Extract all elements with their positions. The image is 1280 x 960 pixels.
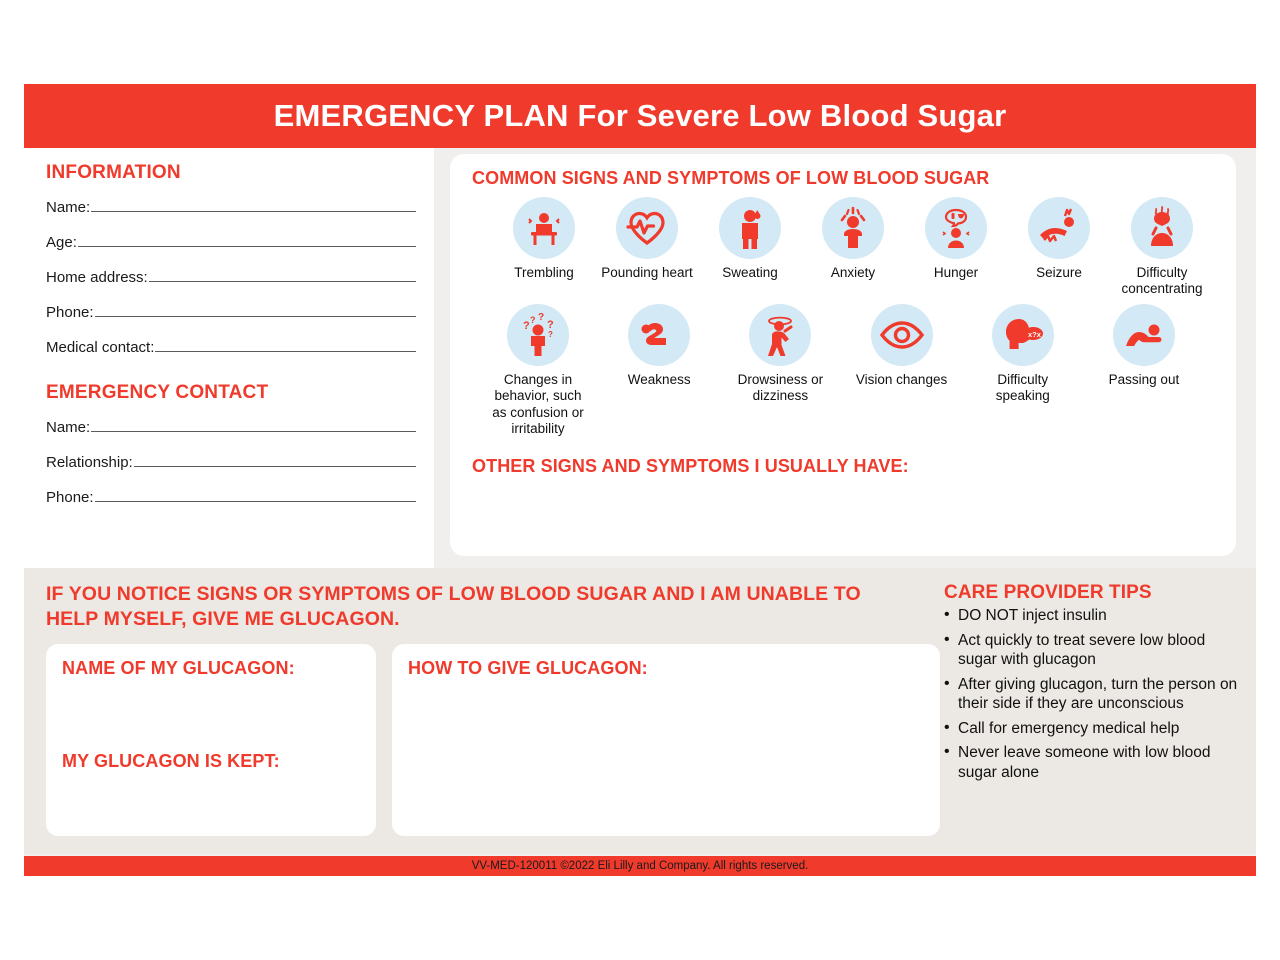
emergency-field-name[interactable]: Name:	[46, 418, 416, 436]
information-panel: INFORMATION Name: Age: Home address: Pho…	[24, 148, 434, 568]
field-label: Name:	[46, 199, 90, 216]
field-label: Home address:	[46, 269, 148, 286]
write-in-line[interactable]	[78, 233, 416, 247]
write-in-line[interactable]	[95, 303, 416, 317]
symptom-difficulty-concentrating: Difficulty concentrating	[1114, 197, 1210, 298]
glucagon-callout: IF YOU NOTICE SIGNS OR SYMPTOMS OF LOW B…	[46, 582, 876, 632]
symptom-label: Weakness	[628, 372, 691, 388]
tip-item: Call for emergency medical help	[944, 719, 1238, 739]
symptom-label: Difficulty speaking	[975, 372, 1071, 405]
symptom-label: Sweating	[722, 265, 778, 281]
symptom-label: Difficulty concentrating	[1114, 265, 1210, 298]
symptom-anxiety: Anxiety	[805, 197, 901, 281]
symptom-trembling: Trembling	[496, 197, 592, 281]
glucagon-section: IF YOU NOTICE SIGNS OR SYMPTOMS OF LOW B…	[24, 568, 1256, 854]
glucagon-name-label: NAME OF MY GLUCAGON:	[62, 658, 360, 679]
emergency-contact-title: EMERGENCY CONTACT	[46, 382, 416, 404]
footer-banner: VV-MED-120011 ©2022 Eli Lilly and Compan…	[24, 856, 1256, 876]
information-title: INFORMATION	[46, 162, 416, 184]
write-in-line[interactable]	[91, 418, 416, 432]
tip-item: Act quickly to treat severe low blood su…	[944, 631, 1238, 670]
tip-item: After giving glucagon, turn the person o…	[944, 675, 1238, 714]
vision-changes-icon	[871, 304, 933, 366]
anxiety-icon	[822, 197, 884, 259]
difficulty-concentrating-icon	[1131, 197, 1193, 259]
symptoms-card: COMMON SIGNS AND SYMPTOMS OF LOW BLOOD S…	[450, 154, 1236, 556]
symptom-passing-out: Passing out	[1096, 304, 1192, 388]
symptom-pounding-heart: Pounding heart	[599, 197, 695, 281]
how-to-give-glucagon-box[interactable]: HOW TO GIVE GLUCAGON:	[392, 644, 940, 836]
behavior-changes-icon: ? ? ? ? ?	[507, 304, 569, 366]
field-label: Relationship:	[46, 454, 133, 471]
sweating-icon	[719, 197, 781, 259]
field-name[interactable]: Name:	[46, 198, 416, 216]
symptom-label: Drowsiness or dizziness	[732, 372, 828, 405]
seizure-icon	[1028, 197, 1090, 259]
symptom-difficulty-speaking: x?x Difficulty speaking	[975, 304, 1071, 405]
symptom-label: Changes in behavior, such as confusion o…	[490, 372, 586, 438]
symptom-seizure: Seizure	[1011, 197, 1107, 281]
svg-text:?: ?	[548, 330, 553, 339]
glucagon-kept-label: MY GLUCAGON IS KEPT:	[62, 751, 360, 772]
hunger-icon	[925, 197, 987, 259]
field-phone[interactable]: Phone:	[46, 303, 416, 321]
symptom-label: Trembling	[514, 265, 574, 281]
page-title: EMERGENCY PLAN For Severe Low Blood Suga…	[274, 98, 1007, 134]
how-to-give-label: HOW TO GIVE GLUCAGON:	[408, 658, 924, 679]
symptom-label: Passing out	[1109, 372, 1180, 388]
symptom-behavior-changes: ? ? ? ? ? Changes in behavior, such as c…	[490, 304, 586, 438]
tip-item: Never leave someone with low blood sugar…	[944, 743, 1238, 782]
difficulty-speaking-icon: x?x	[992, 304, 1054, 366]
svg-text:?: ?	[538, 313, 544, 323]
write-in-line[interactable]	[91, 198, 416, 212]
symptom-label: Pounding heart	[601, 265, 693, 281]
tip-item: DO NOT inject insulin	[944, 606, 1238, 626]
write-in-line[interactable]	[149, 268, 416, 282]
emergency-field-phone[interactable]: Phone:	[46, 488, 416, 506]
field-age[interactable]: Age:	[46, 233, 416, 251]
field-label: Phone:	[46, 304, 94, 321]
drowsiness-icon	[749, 304, 811, 366]
write-in-line[interactable]	[134, 453, 416, 467]
header-banner: EMERGENCY PLAN For Severe Low Blood Suga…	[24, 84, 1256, 148]
symptom-label: Anxiety	[831, 265, 875, 281]
field-label: Medical contact:	[46, 339, 154, 356]
symptom-drowsiness: Drowsiness or dizziness	[732, 304, 828, 405]
emergency-field-relationship[interactable]: Relationship:	[46, 453, 416, 471]
svg-text:?: ?	[523, 320, 530, 332]
symptoms-title: COMMON SIGNS AND SYMPTOMS OF LOW BLOOD S…	[472, 168, 1222, 189]
passing-out-icon	[1113, 304, 1175, 366]
svg-text:x?x: x?x	[1028, 330, 1042, 339]
middle-section: INFORMATION Name: Age: Home address: Pho…	[24, 148, 1256, 568]
trembling-icon	[513, 197, 575, 259]
write-in-line[interactable]	[95, 488, 416, 502]
symptom-sweating: Sweating	[702, 197, 798, 281]
copyright-text: VV-MED-120011 ©2022 Eli Lilly and Compan…	[472, 860, 809, 872]
weakness-icon	[628, 304, 690, 366]
field-label: Name:	[46, 419, 90, 436]
symptom-label: Seizure	[1036, 265, 1082, 281]
care-provider-tips: CARE PROVIDER TIPS DO NOT inject insulin…	[944, 582, 1254, 836]
field-medical-contact[interactable]: Medical contact:	[46, 338, 416, 356]
emergency-plan-sheet: EMERGENCY PLAN For Severe Low Blood Suga…	[24, 84, 1256, 876]
field-home-address[interactable]: Home address:	[46, 268, 416, 286]
pounding-heart-icon	[616, 197, 678, 259]
glucagon-name-box[interactable]: NAME OF MY GLUCAGON: MY GLUCAGON IS KEPT…	[46, 644, 376, 836]
symptom-label: Hunger	[934, 265, 978, 281]
glucagon-left: IF YOU NOTICE SIGNS OR SYMPTOMS OF LOW B…	[24, 582, 944, 836]
symptoms-row-1: Trembling Pounding heart	[472, 197, 1222, 298]
tips-title: CARE PROVIDER TIPS	[944, 582, 1238, 604]
field-label: Phone:	[46, 489, 94, 506]
symptom-weakness: Weakness	[611, 304, 707, 388]
field-label: Age:	[46, 234, 77, 251]
symptoms-row-2: ? ? ? ? ? Changes in behavior, such as c…	[472, 298, 1222, 438]
symptom-vision-changes: Vision changes	[854, 304, 950, 388]
symptom-hunger: Hunger	[908, 197, 1004, 281]
other-symptoms-title: OTHER SIGNS AND SYMPTOMS I USUALLY HAVE:	[472, 456, 1222, 477]
write-in-line[interactable]	[155, 338, 416, 352]
svg-text:?: ?	[530, 315, 536, 325]
symptom-label: Vision changes	[856, 372, 947, 388]
